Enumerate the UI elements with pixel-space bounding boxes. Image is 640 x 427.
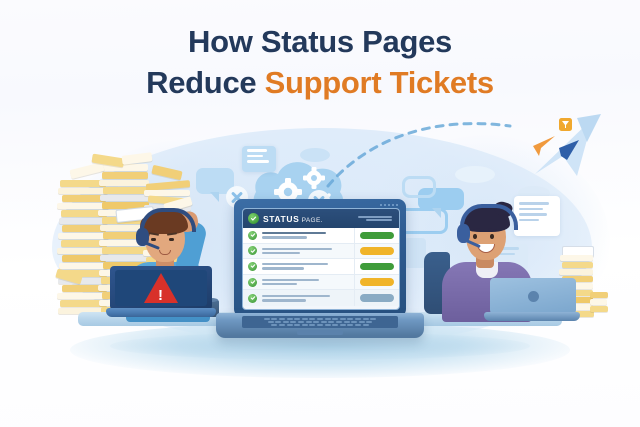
table-row[interactable] bbox=[243, 228, 399, 244]
check-circle-icon bbox=[248, 294, 257, 303]
check-circle-icon bbox=[248, 278, 257, 287]
row-label-lines bbox=[262, 232, 349, 239]
status-badge bbox=[360, 232, 394, 240]
status-page-logo-check-icon bbox=[248, 213, 259, 224]
table-row[interactable] bbox=[243, 290, 399, 306]
row-label-lines bbox=[262, 248, 349, 255]
left-laptop-base bbox=[106, 308, 216, 317]
right-agent-eye-l bbox=[473, 234, 477, 239]
page-title-highlight: Support Tickets bbox=[265, 65, 494, 100]
status-page-title: STATUS PAGE. bbox=[263, 214, 323, 224]
status-badge bbox=[360, 263, 394, 271]
poster-canvas: ? bbox=[0, 0, 640, 427]
message-list-card bbox=[242, 146, 276, 172]
page-title-line-1: How Status Pages bbox=[0, 22, 640, 63]
right-laptop-logo bbox=[528, 291, 539, 302]
right-agent-eye-r bbox=[490, 234, 494, 239]
left-agent-eye-l bbox=[151, 238, 156, 241]
status-badge bbox=[360, 294, 394, 302]
page-title-line-2-plain: Reduce bbox=[146, 65, 265, 100]
center-laptop-keyboard[interactable] bbox=[242, 316, 398, 328]
status-page-title-main: STATUS bbox=[263, 214, 299, 224]
paper-plane-group bbox=[515, 112, 605, 178]
page-title-line-2: Reduce Support Tickets bbox=[0, 63, 640, 104]
status-page-title-sub: PAGE bbox=[302, 217, 321, 224]
left-agent-eye-r bbox=[169, 238, 174, 241]
right-laptop-base bbox=[484, 312, 580, 321]
table-row[interactable] bbox=[243, 275, 399, 291]
paper-plane-orange bbox=[533, 136, 555, 156]
status-page-header: STATUS PAGE. bbox=[243, 209, 399, 228]
status-page-title-trailing: . bbox=[321, 217, 323, 224]
center-laptop-base bbox=[216, 313, 424, 338]
row-label-lines bbox=[262, 263, 349, 270]
check-circle-icon bbox=[248, 246, 257, 255]
row-label-lines bbox=[262, 295, 349, 302]
status-page-header-meta bbox=[358, 216, 394, 222]
warning-exclamation-glyph: ! bbox=[158, 288, 163, 303]
table-row[interactable] bbox=[243, 259, 399, 275]
status-row-list bbox=[243, 228, 399, 306]
status-badge bbox=[360, 247, 394, 255]
status-badge bbox=[360, 278, 394, 286]
table-row[interactable] bbox=[243, 244, 399, 260]
row-label-lines bbox=[262, 279, 349, 286]
poster-title: How Status Pages Reduce Support Tickets bbox=[0, 22, 640, 104]
check-circle-icon bbox=[248, 231, 257, 240]
center-laptop: STATUS PAGE. bbox=[216, 199, 424, 349]
right-laptop bbox=[484, 278, 580, 322]
left-laptop: ! bbox=[106, 266, 216, 318]
center-laptop-trackpad[interactable] bbox=[297, 330, 343, 335]
status-page-screen[interactable]: STATUS PAGE. bbox=[242, 208, 400, 310]
check-circle-icon bbox=[248, 262, 257, 271]
